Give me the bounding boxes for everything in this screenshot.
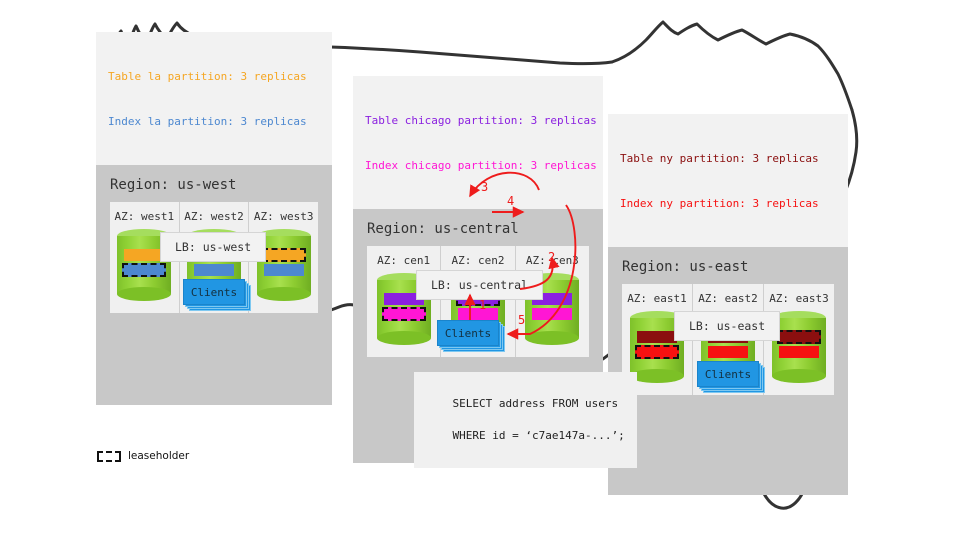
replica-line-table-la: Table la partition: 3 replicas bbox=[108, 69, 322, 84]
band-table-east1 bbox=[637, 331, 677, 343]
lb-us-west[interactable]: LB: us-west bbox=[160, 232, 266, 262]
clients-label-us-west: Clients bbox=[183, 279, 245, 305]
cylinder-bottom bbox=[117, 287, 171, 301]
us-border-northeast bbox=[612, 22, 852, 110]
region-title-us-central: Region: us-central bbox=[353, 209, 603, 246]
arrow-number-1: 1 bbox=[479, 298, 486, 312]
band-index-west2 bbox=[194, 264, 234, 276]
dashed-outline-swatch-icon bbox=[97, 451, 121, 462]
region-head-us-east: Table ny partition: 3 replicas Index ny … bbox=[608, 114, 848, 247]
cylinder-bottom bbox=[772, 369, 826, 383]
legend-leaseholder: leaseholder bbox=[97, 450, 189, 462]
sql-line-2: WHERE id = ‘c7ae147a-...’; bbox=[453, 429, 625, 442]
legend-label: leaseholder bbox=[128, 450, 189, 462]
replica-line-index-ny: Index ny partition: 3 replicas bbox=[620, 196, 838, 211]
band-index-west1-leaseholder bbox=[122, 263, 166, 277]
replica-line-table-chicago: Table chicago partition: 3 replicas bbox=[365, 113, 593, 128]
band-table-west3-leaseholder bbox=[262, 248, 306, 262]
band-index-east3 bbox=[779, 346, 819, 358]
band-index-west3 bbox=[264, 264, 304, 276]
region-head-us-central: Table chicago partition: 3 replicas Inde… bbox=[353, 76, 603, 209]
az-label-cen2: AZ: cen2 bbox=[441, 254, 514, 267]
cylinder-bottom bbox=[377, 331, 431, 345]
az-label-west3: AZ: west3 bbox=[249, 210, 318, 223]
sql-line-1: SELECT address FROM users bbox=[453, 397, 619, 410]
region-head-us-west: Table la partition: 3 replicas Index la … bbox=[96, 32, 332, 165]
clients-us-east[interactable]: Clients bbox=[697, 361, 759, 387]
region-title-us-east: Region: us-east bbox=[608, 247, 848, 284]
arrow-number-2: 2 bbox=[548, 250, 555, 264]
clients-label-us-east: Clients bbox=[697, 361, 759, 387]
arrow-number-4: 4 bbox=[507, 194, 514, 208]
lb-us-central[interactable]: LB: us-central bbox=[416, 270, 543, 300]
band-index-cen3 bbox=[532, 308, 572, 320]
band-table-west1 bbox=[124, 249, 164, 261]
band-index-east1-leaseholder bbox=[635, 345, 679, 359]
band-index-cen1-leaseholder bbox=[382, 307, 426, 321]
cylinder-bottom bbox=[525, 331, 579, 345]
sql-query-box: SELECT address FROM users WHERE id = ‘c7… bbox=[414, 372, 637, 468]
region-panel-us-west: Table la partition: 3 replicas Index la … bbox=[96, 32, 332, 405]
region-title-us-west: Region: us-west bbox=[96, 165, 332, 202]
band-table-east3-leaseholder bbox=[777, 330, 821, 344]
az-label-east3: AZ: east3 bbox=[764, 292, 834, 305]
cylinder-bottom bbox=[257, 287, 311, 301]
replica-line-index-la: Index la partition: 3 replicas bbox=[108, 114, 322, 129]
az-cen1[interactable]: AZ: cen1 bbox=[367, 246, 440, 357]
band-index-east2 bbox=[708, 346, 748, 358]
clients-label-us-central: Clients bbox=[437, 320, 499, 346]
arrow-number-3: 3 bbox=[481, 180, 488, 194]
az-label-west1: AZ: west1 bbox=[110, 210, 179, 223]
band-index-cen2 bbox=[458, 308, 498, 320]
region-panel-us-east: Table ny partition: 3 replicas Index ny … bbox=[608, 114, 848, 495]
clients-us-central[interactable]: Clients bbox=[437, 320, 499, 346]
cylinder-bottom bbox=[630, 369, 684, 383]
az-label-east1: AZ: east1 bbox=[622, 292, 692, 305]
az-label-cen1: AZ: cen1 bbox=[367, 254, 440, 267]
az-label-west2: AZ: west2 bbox=[180, 210, 249, 223]
arrow-number-5: 5 bbox=[518, 313, 525, 327]
lb-us-east[interactable]: LB: us-east bbox=[674, 311, 780, 341]
diagram-stage: Table la partition: 3 replicas Index la … bbox=[0, 0, 960, 540]
replica-line-index-chicago: Index chicago partition: 3 replicas bbox=[365, 158, 593, 173]
replica-line-table-ny: Table ny partition: 3 replicas bbox=[620, 151, 838, 166]
clients-us-west[interactable]: Clients bbox=[183, 279, 245, 305]
az-label-east2: AZ: east2 bbox=[693, 292, 763, 305]
